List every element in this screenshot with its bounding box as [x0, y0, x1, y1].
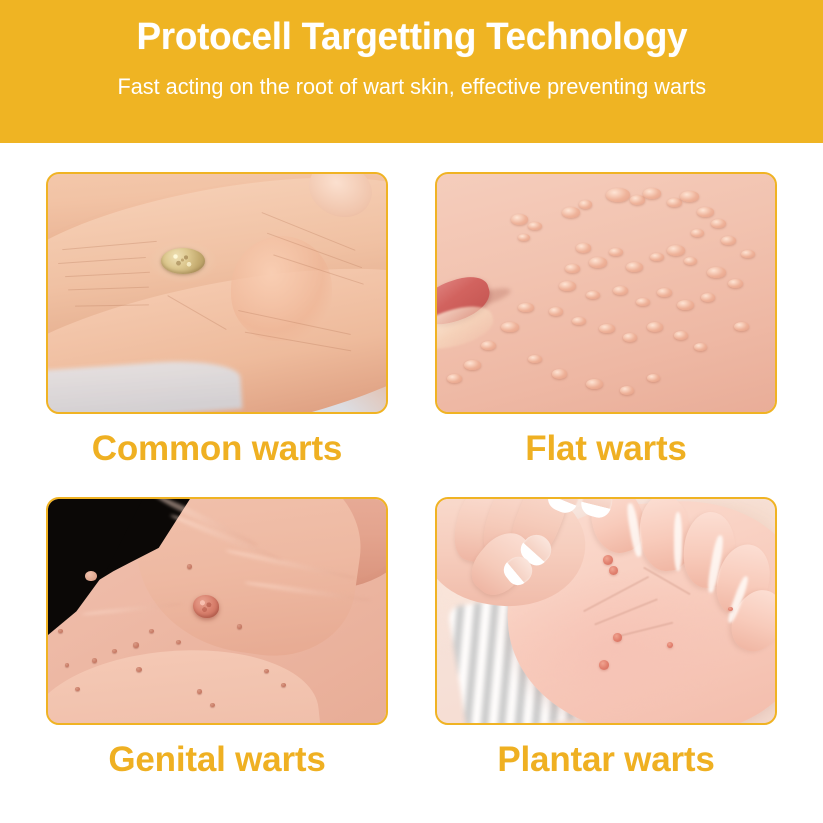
wart-types-infographic: Protocell Targetting Technology Fast act… [0, 0, 823, 823]
photo-plantar-warts [437, 499, 775, 723]
card-caption-plantar-warts: Plantar warts [435, 742, 777, 777]
image-card-flat-warts [435, 172, 777, 414]
wart-lesion [599, 660, 609, 669]
header-band: Protocell Targetting Technology Fast act… [0, 0, 823, 143]
photo-genital-warts [48, 499, 386, 723]
photo-flat-warts [437, 174, 775, 412]
wart-type-cell-plantar: Plantar warts [435, 497, 777, 777]
wart-lesion [609, 566, 618, 575]
image-card-plantar-warts [435, 497, 777, 725]
image-card-genital-warts [46, 497, 388, 725]
photo-common-warts [48, 174, 386, 412]
page-subtitle: Fast acting on the root of wart skin, ef… [117, 75, 706, 99]
card-caption-genital-warts: Genital warts [46, 742, 388, 777]
wart-type-cell-genital: Genital warts [46, 497, 388, 777]
card-caption-common-warts: Common warts [46, 431, 388, 466]
wart-type-grid: Common warts [0, 143, 823, 823]
wart-type-cell-common: Common warts [46, 172, 388, 466]
image-card-common-warts [46, 172, 388, 414]
wart-lesion [161, 248, 205, 274]
page-title: Protocell Targetting Technology [136, 17, 687, 59]
wart-lesion [193, 595, 218, 617]
wart-type-cell-flat: Flat warts [435, 172, 777, 466]
card-caption-flat-warts: Flat warts [435, 431, 777, 466]
